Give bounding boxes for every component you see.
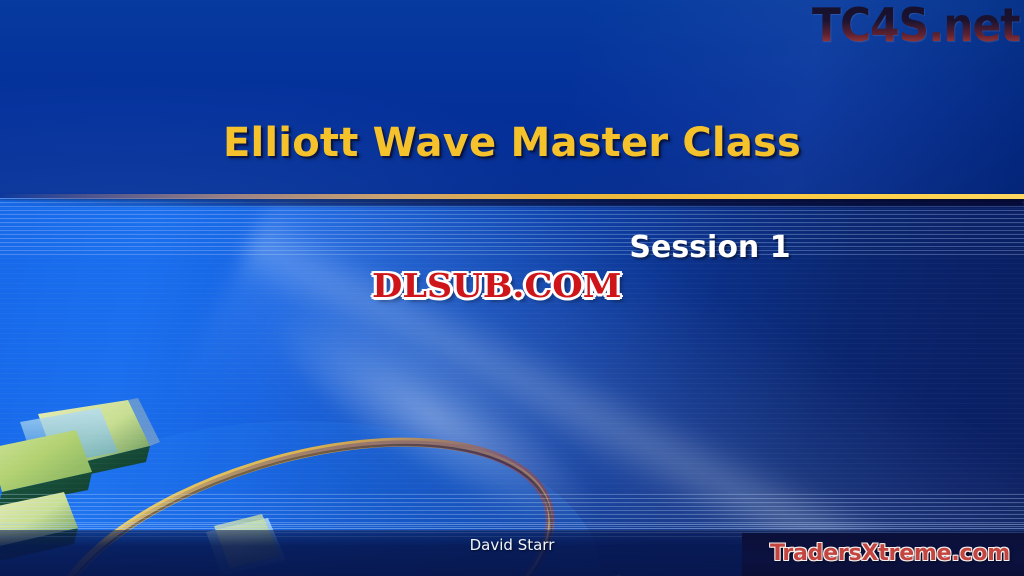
page-title: Elliott Wave Master Class [0, 120, 1024, 166]
author-name: David Starr [362, 536, 662, 554]
divider-shadow [0, 199, 1024, 206]
scanline-overlay [0, 198, 1024, 576]
scanline-band-top [0, 198, 1024, 258]
watermark-tc4s: TC4S.net [812, 0, 1020, 52]
logo-tradersxtreme: TradersXtreme.com [770, 541, 1010, 566]
watermark-dlsub: DLSUB.COM [372, 266, 621, 305]
presentation-slide: Elliott Wave Master Class Session 1 Davi… [0, 0, 1024, 576]
gold-divider-line [0, 194, 1024, 199]
session-subtitle: Session 1 [560, 230, 860, 265]
slide-graphic-background [0, 198, 1024, 576]
scanline-band-bottom [0, 494, 1024, 534]
